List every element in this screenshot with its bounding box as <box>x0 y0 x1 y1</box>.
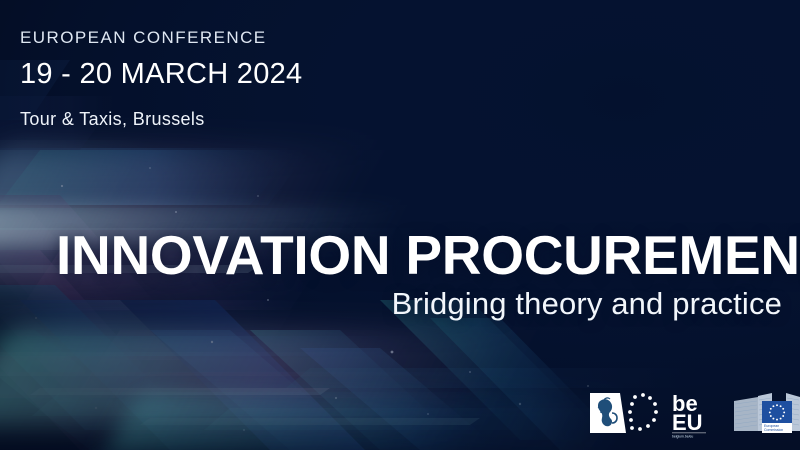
be-eu-logo: be EU belgium.be/eu <box>668 387 720 439</box>
event-dates: 19 - 20 MARCH 2024 <box>20 58 302 91</box>
be-eu-line2: EU <box>672 410 703 435</box>
page-title: INNOVATION PROCUREMENT <box>56 228 800 283</box>
belgian-eu-presidency-logo <box>586 387 664 439</box>
european-commission-logo: European Commission <box>728 387 800 439</box>
conference-banner: EUROPEAN CONFERENCE 19 - 20 MARCH 2024 T… <box>0 0 800 450</box>
event-eyebrow: EUROPEAN CONFERENCE <box>20 28 267 48</box>
logo-strip: be EU belgium.be/eu <box>586 386 800 440</box>
page-subtitle: Bridging theory and practice <box>392 286 782 322</box>
ec-label-line2: Commission <box>764 428 783 432</box>
be-eu-tagline: belgium.be/eu <box>672 435 693 439</box>
eu-stars-arc <box>628 393 658 431</box>
event-venue: Tour & Taxis, Brussels <box>20 109 205 130</box>
